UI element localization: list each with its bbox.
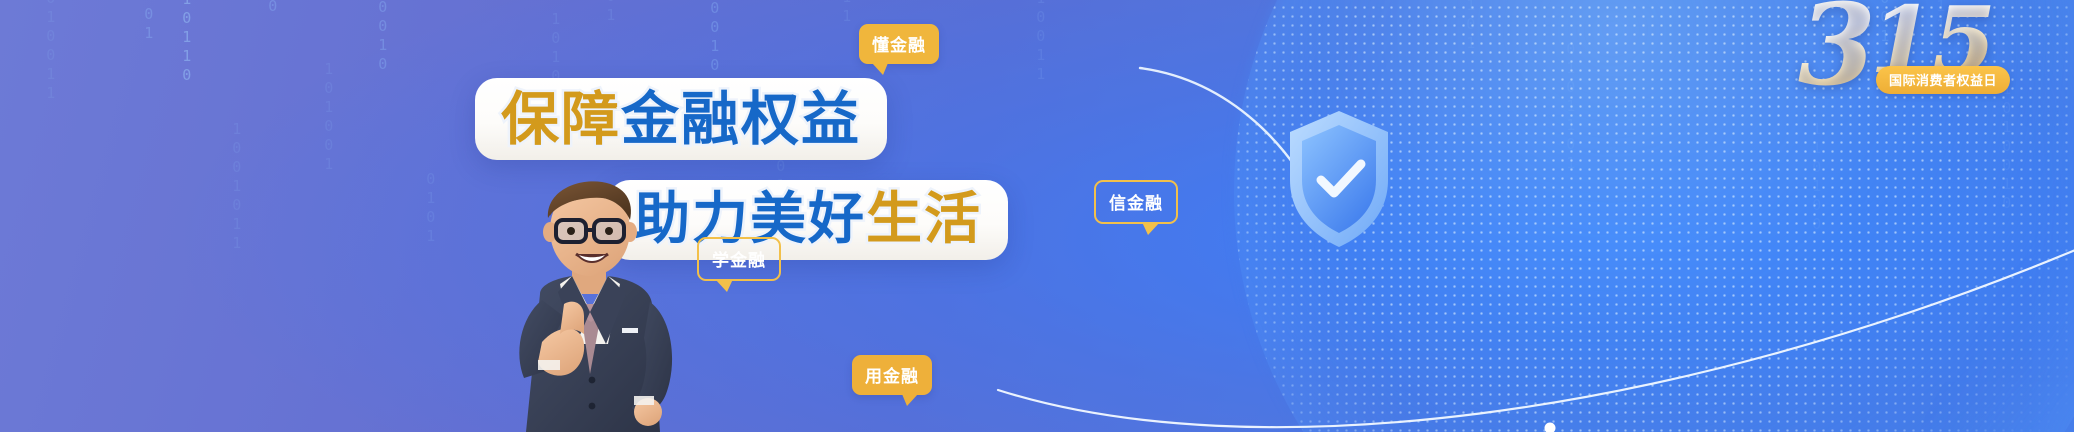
binary-code-background: 1010011 0101001 10110 1001011 0110 10100… [0,0,2074,432]
shield-check-icon [1285,108,1393,250]
headline-bubble-primary: 保障金融权益 [475,78,887,160]
binary-column: 1100101 [1460,0,1480,53]
headline-line2-gold: 生活 [866,192,982,248]
tag-xue-jinrong: 学金融 [697,237,781,281]
tag-label: 懂金融 [872,36,926,56]
tag-label: 信金融 [1109,194,1163,214]
binary-column: 01101 [600,0,620,25]
binary-column: 0101001 [138,0,158,43]
tag-yong-jinrong: 用金融 [852,355,932,395]
binary-column: 0101101 [1560,40,1580,173]
binary-column: 010011 [1030,0,1050,84]
315-subtitle-pill: 国际消费者权益日 [1876,66,2010,94]
binary-column: 1011 [836,0,856,26]
binary-column: 10110 [176,0,196,85]
binary-column: 1001011 [226,120,246,253]
binary-column: 110100 [1806,120,1826,234]
businessman-thumbs-up [480,168,700,432]
binary-column: 101001 [318,60,338,174]
binary-column: 0110 [262,0,282,16]
banner-root: 1010011 0101001 10110 1001011 0110 10100… [0,0,2074,432]
tag-label: 学金融 [712,251,766,271]
binary-column: 110010 [372,0,392,74]
headline-line1-blue: 金融权益 [621,90,861,148]
headline-line1-gold: 保障 [501,90,621,148]
tag-label: 用金融 [865,367,919,387]
tag-dong-jinrong: 懂金融 [859,24,939,64]
binary-column: 1010011 [40,0,60,103]
tag-xin-jinrong: 信金融 [1094,180,1178,224]
315-logo: 315 国际消费者权益日 [1776,0,2016,102]
binary-column: 0101 [420,170,440,246]
